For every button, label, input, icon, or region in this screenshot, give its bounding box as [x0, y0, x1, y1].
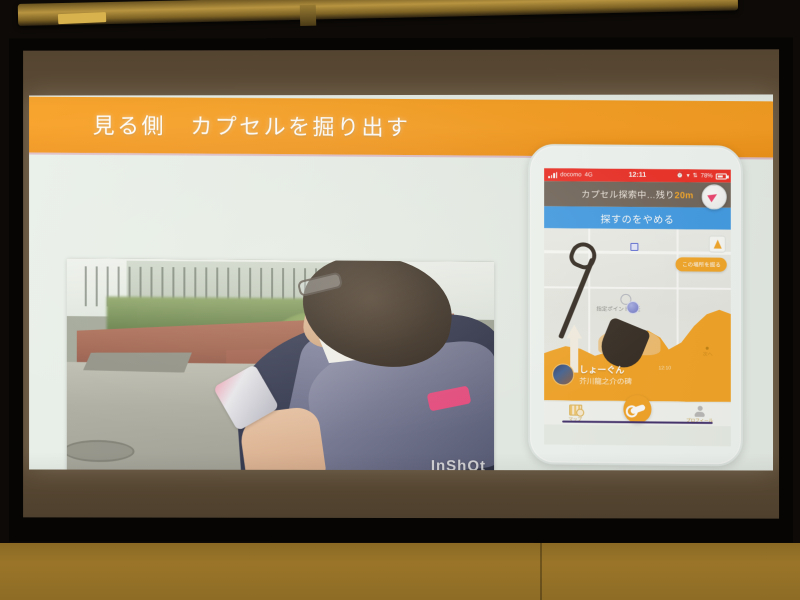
avatar — [552, 363, 574, 385]
wall-lower — [0, 543, 800, 600]
shovel-icon[interactable] — [623, 395, 651, 423]
battery-icon — [716, 173, 727, 179]
distant-marker[interactable]: 次へ — [703, 347, 713, 358]
bluetooth-icon: ⇅ — [693, 172, 698, 179]
distant-marker-label: 次へ — [703, 352, 713, 358]
navigation-arrow-icon — [713, 240, 721, 249]
projector-screen-roller — [18, 0, 738, 26]
alarm-icon: ⏰ — [676, 172, 684, 179]
map-icon — [569, 404, 582, 415]
search-status-prefix: カプセル探索中…残り — [581, 189, 674, 200]
user-name: しょーぐん — [579, 363, 632, 377]
compass-icon[interactable] — [702, 184, 727, 209]
shovel-glyph — [629, 404, 645, 415]
wifi-icon: ▾ — [687, 172, 690, 179]
projection-screen-frame: 見る側 カプセルを掘り出す — [9, 37, 793, 542]
user-card-text: しょーぐん 芥川龍之介の碑 — [579, 363, 632, 388]
stop-search-button[interactable]: 探すのをやめる — [544, 206, 731, 230]
phone-screen: docomo 4G 12:11 ⏰ ▾ ⇅ 78% — [544, 168, 731, 446]
presentation-slide: 見る側 カプセルを掘り出す — [29, 94, 773, 470]
bottom-tab-bar: マップ プロフィール — [544, 400, 731, 426]
slide-title: 見る側 カプセルを掘り出す — [93, 108, 411, 142]
capsule-title: 芥川龍之介の碑 — [579, 376, 632, 388]
user-capsule-card[interactable]: しょーぐん 芥川龍之介の碑 12:10 — [552, 362, 632, 387]
roller-label — [58, 12, 106, 24]
photo-watermark: InShOt — [431, 457, 486, 470]
dig-here-button[interactable]: この場所を掘る — [676, 257, 727, 271]
locate-me-button[interactable] — [709, 236, 726, 253]
photo-manhole — [67, 440, 135, 463]
phone-mockup: docomo 4G 12:11 ⏰ ▾ ⇅ 78% — [528, 144, 743, 466]
status-right: ⏰ ▾ ⇅ 78% — [676, 172, 727, 179]
profile-icon — [694, 405, 706, 416]
home-indicator — [562, 421, 713, 424]
tab-map[interactable]: マップ — [547, 404, 603, 423]
compass-needle — [707, 191, 719, 203]
wall-seam — [540, 543, 542, 600]
room-background: 見る側 カプセルを掘り出す — [0, 0, 800, 600]
capsule-timestamp: 12:10 — [658, 365, 671, 371]
shovel-handle — [566, 238, 600, 272]
slide-photo: InShOt — [67, 258, 494, 470]
roller-bracket — [300, 5, 316, 26]
search-status-text: カプセル探索中…残り20m — [581, 187, 693, 201]
tab-dig[interactable] — [609, 413, 665, 414]
map-view[interactable]: この場所を掘る 指定ポイント付近 — [544, 228, 731, 402]
remaining-distance: 20m — [675, 190, 694, 200]
distant-marker-dot — [706, 347, 709, 350]
projection-screen: 見る側 カプセルを掘り出す — [23, 49, 779, 518]
app-header-bar: カプセル探索中…残り20m — [544, 181, 731, 208]
battery-percent: 78% — [701, 173, 713, 179]
